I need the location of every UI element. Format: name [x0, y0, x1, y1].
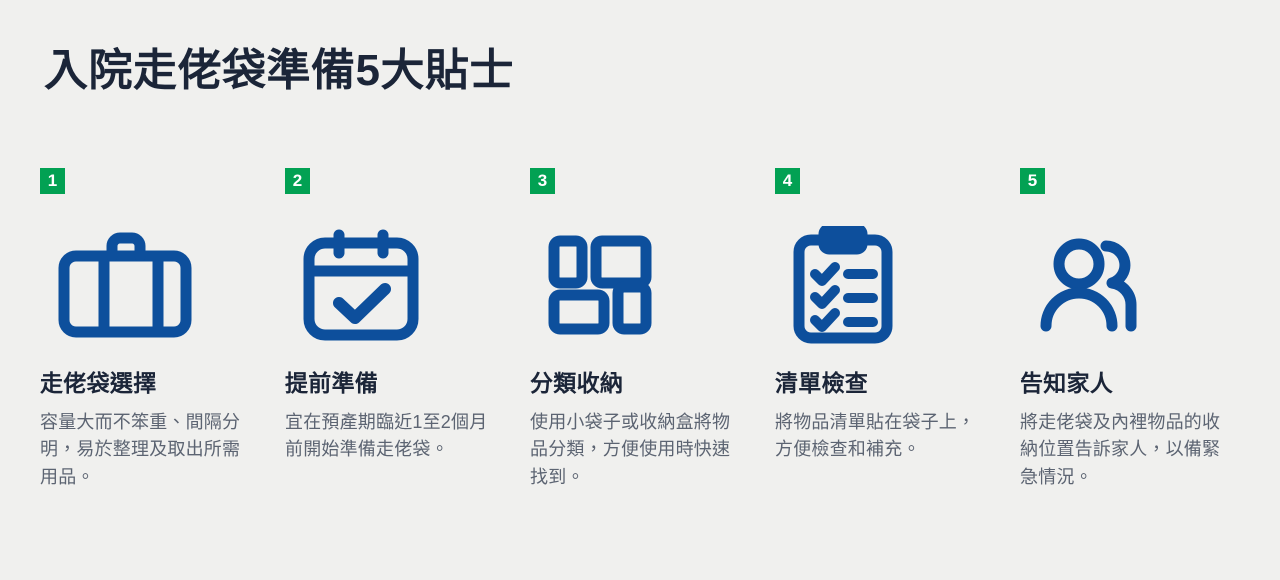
tip-icon-3 — [530, 226, 747, 344]
tips-row: 1 走佬袋選擇 容量大而不笨重、間隔分明，易於整理及取出所需用品。 2 — [40, 168, 1255, 492]
tip-icon-2 — [285, 226, 502, 344]
tip-body-5: 將走佬袋及內裡物品的收納位置告訴家人，以備緊急情況。 — [1020, 409, 1237, 493]
tip-heading-4: 清單檢查 — [775, 370, 992, 398]
tip-card-3: 3 分類收納 使用小袋子或收納盒將物品分類，方便使用時快速找到。 — [530, 168, 775, 492]
infographic-canvas: 入院走佬袋準備5大貼士 1 走佬袋選擇 容量大而不笨重、間隔分明，易於整理及取出… — [0, 0, 1280, 580]
tip-icon-4 — [775, 226, 992, 344]
tip-card-4: 4 清單檢查 將物品清單貼在袋子上，方便檢查和補充。 — [775, 168, 1020, 464]
layout-grid-icon — [548, 235, 652, 335]
tip-body-4: 將物品清單貼在袋子上，方便檢查和補充。 — [775, 409, 992, 465]
tip-number-badge-4: 4 — [775, 168, 800, 194]
tip-heading-2: 提前準備 — [285, 370, 502, 398]
tip-heading-5: 告知家人 — [1020, 370, 1237, 398]
calendar-check-icon — [303, 229, 419, 341]
clipboard-checklist-icon — [793, 226, 893, 344]
tip-body-1: 容量大而不笨重、間隔分明，易於整理及取出所需用品。 — [40, 409, 257, 493]
tip-card-2: 2 提前準備 宜在預產期臨近1至2個月前開始準備走佬袋。 — [285, 168, 530, 464]
suitcase-icon — [58, 232, 192, 338]
people-icon — [1038, 238, 1146, 332]
tip-heading-3: 分類收納 — [530, 370, 747, 398]
tip-icon-5 — [1020, 226, 1237, 344]
tip-body-3: 使用小袋子或收納盒將物品分類，方便使用時快速找到。 — [530, 409, 747, 493]
tip-card-5: 5 告知家人 將走佬袋及內裡物品的收納位置告訴家人，以備緊急情況。 — [1020, 168, 1265, 492]
tip-heading-1: 走佬袋選擇 — [40, 370, 257, 398]
tip-number-badge-1: 1 — [40, 168, 65, 194]
tip-body-2: 宜在預產期臨近1至2個月前開始準備走佬袋。 — [285, 409, 502, 465]
tip-number-badge-5: 5 — [1020, 168, 1045, 194]
page-title: 入院走佬袋準備5大貼士 — [44, 47, 514, 95]
tip-icon-1 — [40, 226, 257, 344]
tip-card-1: 1 走佬袋選擇 容量大而不笨重、間隔分明，易於整理及取出所需用品。 — [40, 168, 285, 492]
tip-number-badge-2: 2 — [285, 168, 310, 194]
tip-number-badge-3: 3 — [530, 168, 555, 194]
